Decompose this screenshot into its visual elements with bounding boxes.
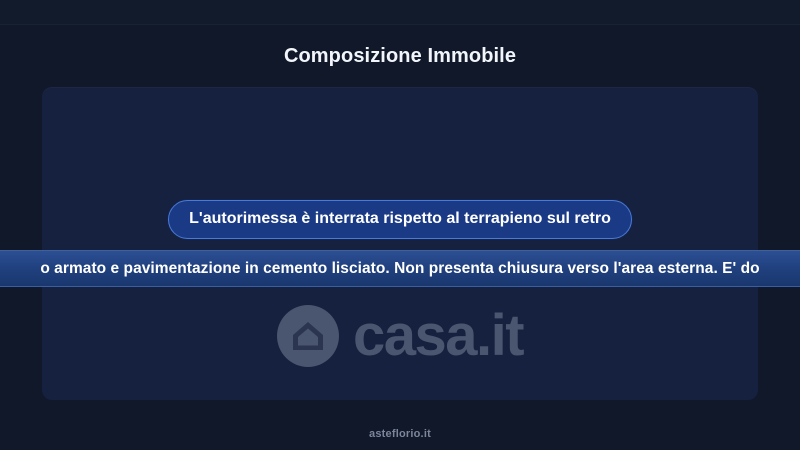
casa-it-wordmark: casa.it xyxy=(353,307,523,365)
footer-site-label: asteflorio.it xyxy=(0,427,800,441)
house-icon xyxy=(277,305,339,367)
top-divider xyxy=(0,24,800,25)
page-title: Composizione Immobile xyxy=(0,44,800,68)
highlight-pill[interactable]: L'autorimessa è interrata rispetto al te… xyxy=(168,200,632,239)
overflow-band-text: o armato e pavimentazione in cemento lis… xyxy=(40,259,759,279)
content-card: L'autorimessa è interrata rispetto al te… xyxy=(42,87,758,400)
overflow-text-band[interactable]: o armato e pavimentazione in cemento lis… xyxy=(0,250,800,287)
highlight-pill-row: L'autorimessa è interrata rispetto al te… xyxy=(42,200,758,239)
app-viewport: Composizione Immobile L'autorimessa è in… xyxy=(0,0,800,450)
casa-it-watermark: casa.it xyxy=(42,305,758,367)
